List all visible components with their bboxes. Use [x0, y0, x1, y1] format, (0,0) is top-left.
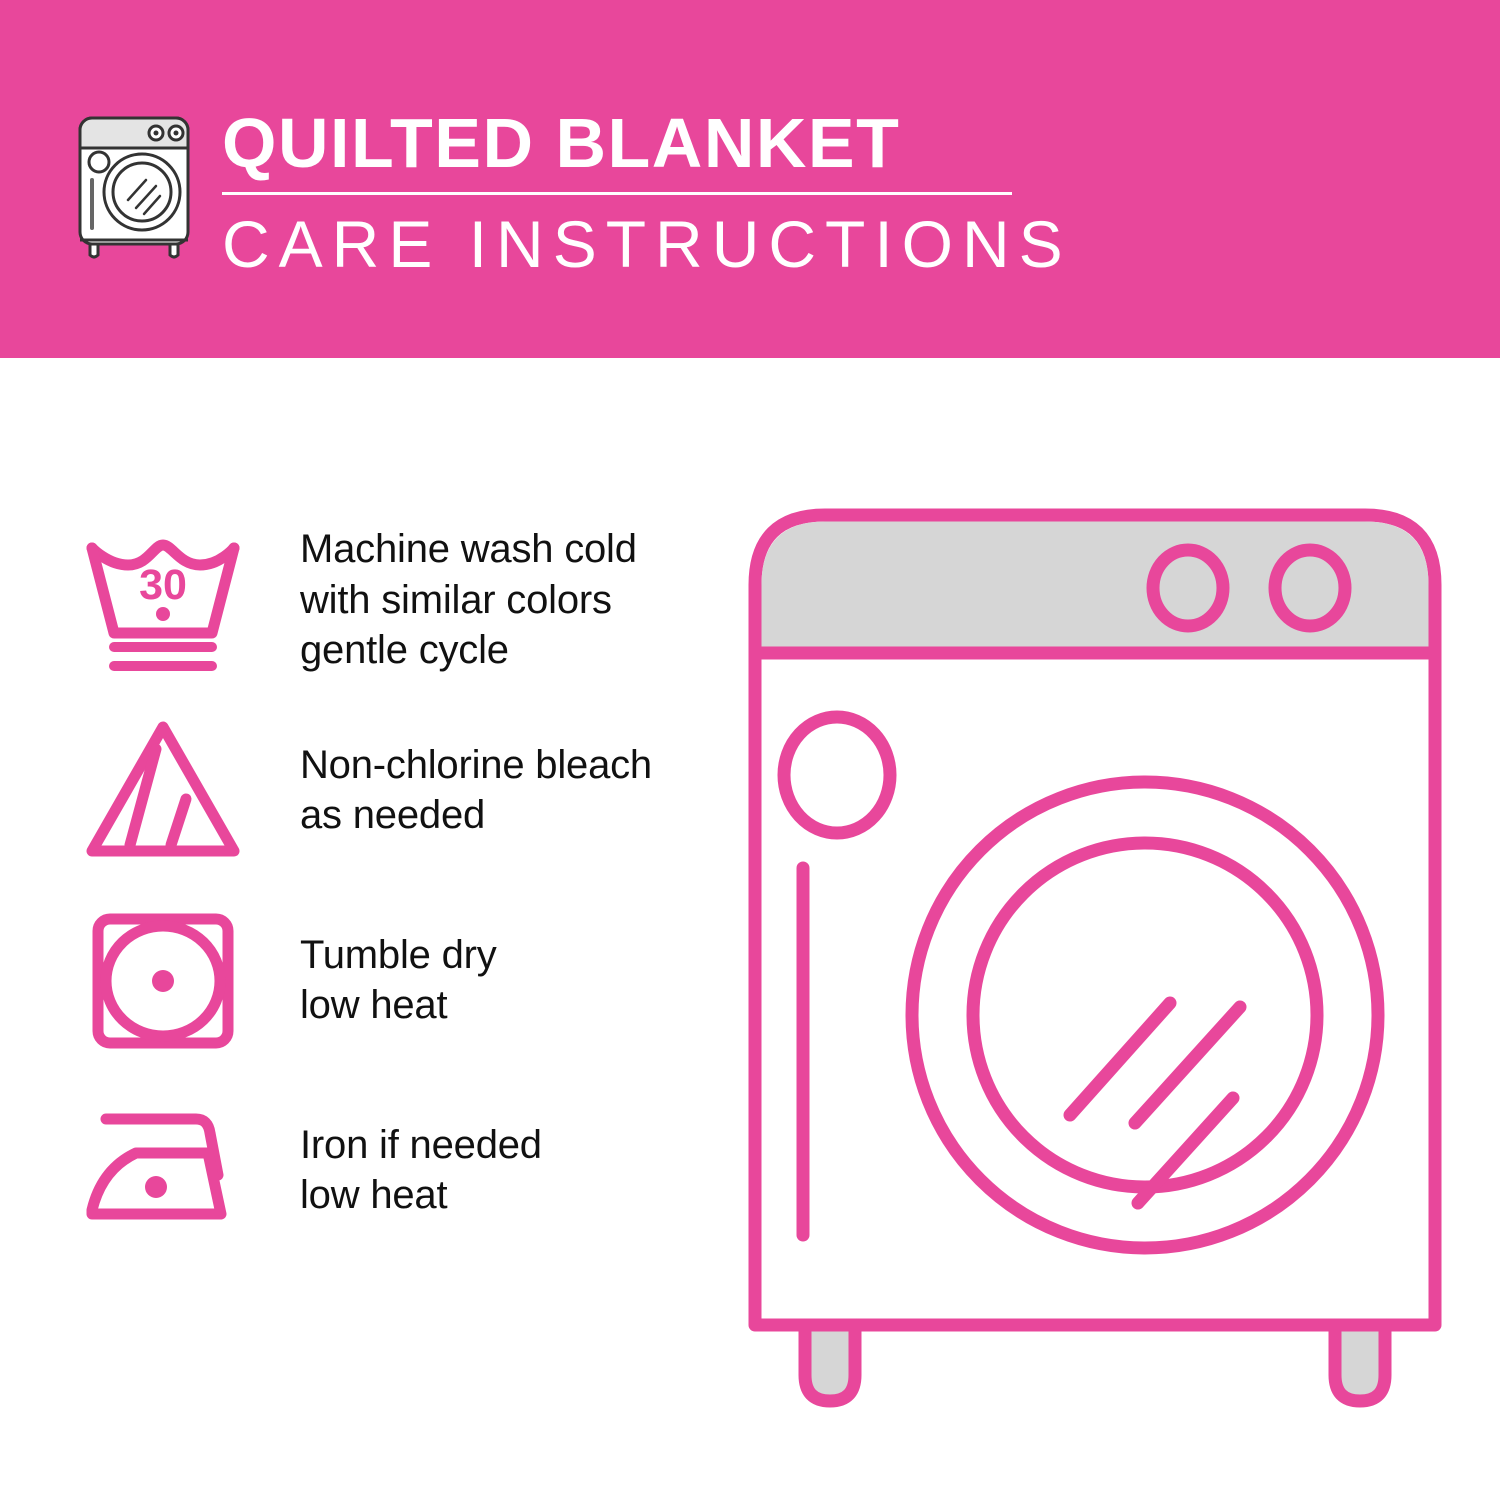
care-row-bleach: Non-chlorine bleach as needed	[68, 695, 708, 885]
wash-tub-30-gentle-icon: 30	[68, 513, 258, 688]
header-banner: QUILTED BLANKET CARE INSTRUCTIONS	[0, 0, 1500, 358]
tumble-dry-low-icon	[68, 893, 258, 1068]
non-chlorine-bleach-triangle-icon	[68, 703, 258, 878]
care-text-wash: Machine wash cold with similar colors ge…	[258, 524, 637, 675]
care-text-tumble-dry: Tumble dry low heat	[258, 930, 497, 1031]
washing-machine-logo-icon	[64, 100, 204, 260]
title-block: QUILTED BLANKET CARE INSTRUCTIONS	[222, 100, 1022, 277]
care-row-iron: Iron if needed low heat	[68, 1075, 708, 1265]
care-text-iron: Iron if needed low heat	[258, 1120, 542, 1221]
front-load-washing-machine-illustration	[745, 495, 1445, 1420]
header-content: QUILTED BLANKET CARE INSTRUCTIONS	[64, 100, 1022, 277]
page-subtitle: CARE INSTRUCTIONS	[222, 211, 1022, 277]
washer-door-inner	[973, 843, 1317, 1187]
care-instruction-list: 30 Machine wash cold with similar colors…	[68, 505, 708, 1265]
care-instructions-page: QUILTED BLANKET CARE INSTRUCTIONS 30	[0, 0, 1500, 1500]
care-row-wash: 30 Machine wash cold with similar colors…	[68, 505, 708, 695]
care-row-tumble-dry: Tumble dry low heat	[68, 885, 708, 1075]
iron-low-heat-icon	[68, 1083, 258, 1258]
care-text-bleach: Non-chlorine bleach as needed	[258, 740, 652, 841]
page-title: QUILTED BLANKET	[222, 108, 1022, 178]
washer-leg-left	[805, 1325, 855, 1401]
washer-knob-2	[1275, 550, 1345, 626]
wash-temperature-label: 30	[139, 561, 187, 609]
washer-leg-right	[1335, 1325, 1385, 1401]
washer-dial	[784, 717, 890, 833]
washer-knob-1	[1153, 550, 1223, 626]
title-divider	[222, 192, 1012, 195]
